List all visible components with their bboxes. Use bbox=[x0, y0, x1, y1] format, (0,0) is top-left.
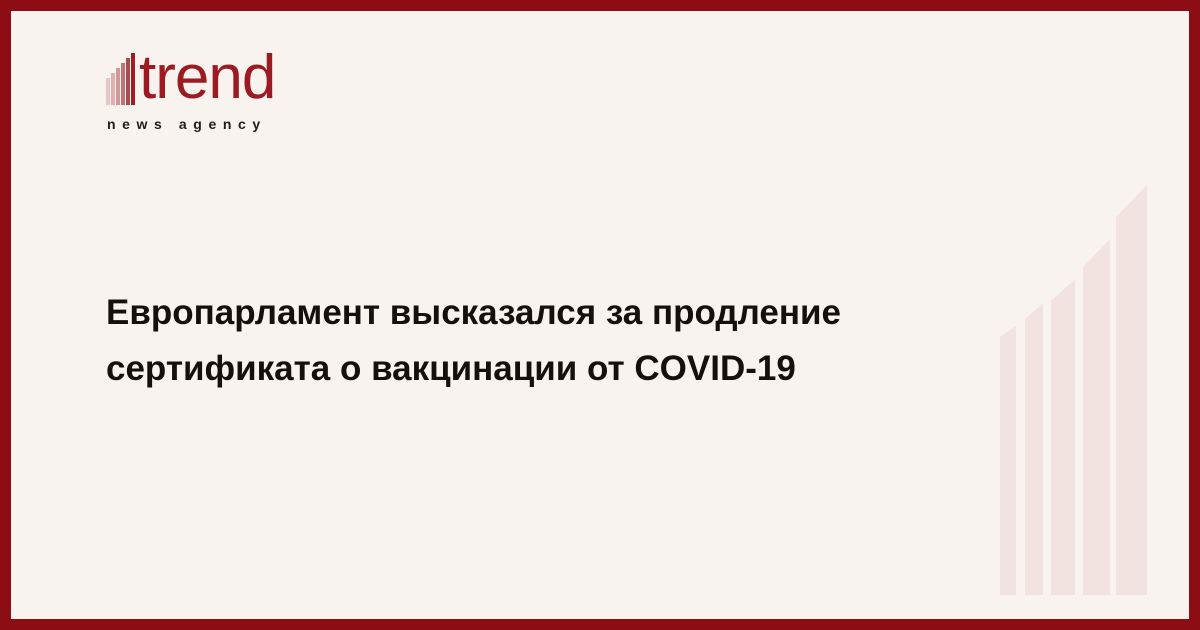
decorative-bar-5 bbox=[1116, 185, 1147, 595]
news-share-card: trend news agency Европарламент высказал… bbox=[0, 0, 1200, 630]
logo-bar-5 bbox=[126, 58, 130, 105]
logo-bar-2 bbox=[111, 73, 115, 105]
logo-tagline: news agency bbox=[107, 115, 267, 133]
ascending-bars-icon bbox=[106, 53, 142, 105]
trend-logo[interactable]: trend news agency bbox=[95, 45, 395, 145]
logo-wordmark: trend bbox=[139, 45, 275, 111]
logo-bar-6 bbox=[131, 53, 135, 105]
logo-bar-4 bbox=[121, 63, 125, 105]
decorative-bar-2 bbox=[1025, 303, 1043, 595]
decorative-bar-1 bbox=[1000, 326, 1016, 595]
page-title: Европарламент высказался за продление се… bbox=[106, 285, 966, 397]
decorative-bar-3 bbox=[1051, 279, 1075, 595]
decorative-ascending-bars bbox=[988, 11, 1178, 619]
logo-bar-3 bbox=[116, 68, 120, 105]
decorative-bar-4 bbox=[1083, 239, 1110, 595]
logo-bar-1 bbox=[106, 78, 110, 105]
